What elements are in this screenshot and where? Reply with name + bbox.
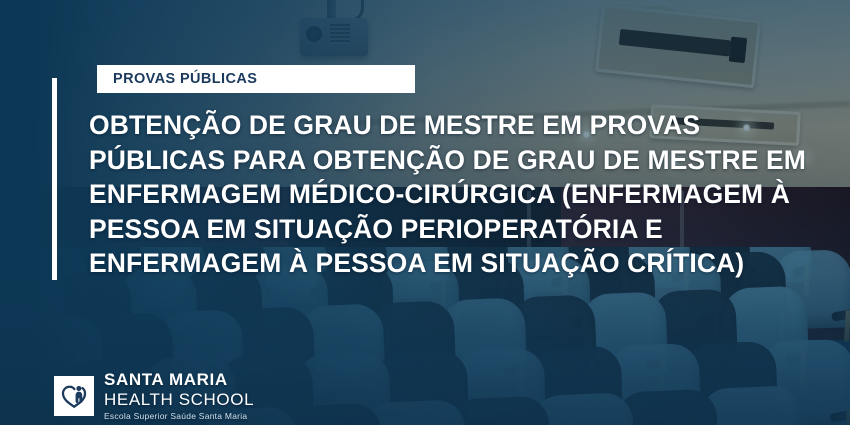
vertical-accent-bar bbox=[52, 78, 57, 280]
logo-name-line2: HEALTH SCHOOL bbox=[104, 391, 254, 408]
logo-tagline: Escola Superior Saúde Santa Maria bbox=[104, 412, 254, 421]
heart-person-icon bbox=[60, 382, 88, 410]
logo-name-line1: SANTA MARIA bbox=[104, 371, 254, 388]
logo-mark bbox=[54, 376, 94, 416]
headline-line: ENFERMAGEM À PESSOA EM SITUAÇÃO CRÍTICA) bbox=[89, 246, 779, 281]
logo-text-block: SANTA MARIA HEALTH SCHOOL Escola Superio… bbox=[104, 371, 254, 421]
headline-line: ENFERMAGEM MÉDICO-CIRÚRGICA (ENFERMAGEM … bbox=[89, 177, 779, 212]
headline-line: OBTENÇÃO DE GRAU DE MESTRE EM PROVAS bbox=[89, 108, 779, 143]
event-banner: PROVAS PÚBLICAS OBTENÇÃO DE GRAU DE MEST… bbox=[0, 0, 850, 425]
category-badge: PROVAS PÚBLICAS bbox=[97, 65, 415, 93]
institution-logo: SANTA MARIA HEALTH SCHOOL Escola Superio… bbox=[54, 371, 254, 421]
page-title: OBTENÇÃO DE GRAU DE MESTRE EM PROVAS PÚB… bbox=[89, 108, 779, 281]
headline-line: PESSOA EM SITUAÇÃO PERIOPERATÓRIA E bbox=[89, 212, 779, 247]
banner-content: PROVAS PÚBLICAS OBTENÇÃO DE GRAU DE MEST… bbox=[0, 0, 850, 425]
category-badge-label: PROVAS PÚBLICAS bbox=[113, 71, 257, 87]
headline-line: PÚBLICAS PARA OBTENÇÃO DE GRAU DE MESTRE… bbox=[89, 143, 779, 178]
